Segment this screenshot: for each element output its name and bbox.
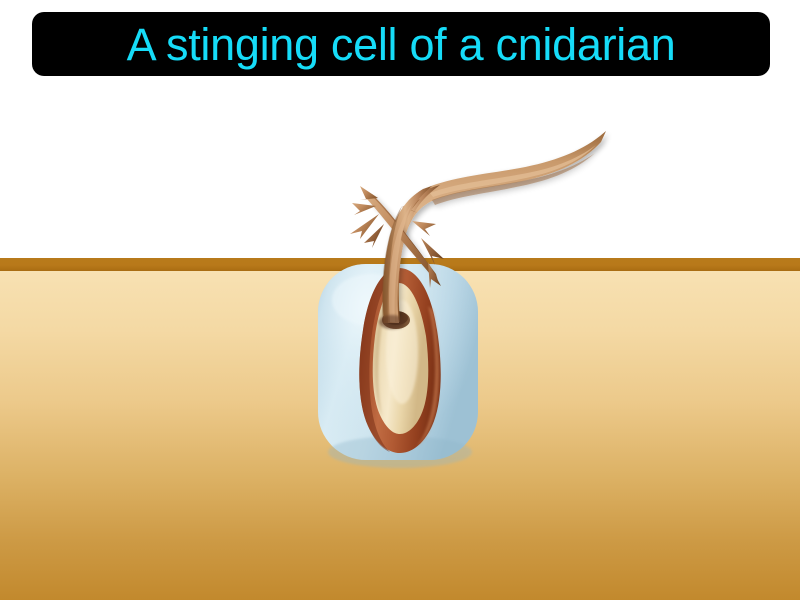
- barb-spike: [412, 221, 436, 236]
- tubule-entry-shadow: [379, 315, 405, 329]
- diagram-canvas: A stinging cell of a cnidarian: [0, 0, 800, 600]
- page-title: A stinging cell of a cnidarian: [127, 22, 676, 67]
- title-banner: A stinging cell of a cnidarian: [32, 12, 770, 76]
- barb-spike: [360, 186, 378, 200]
- nematocyst-illustration: [0, 0, 800, 600]
